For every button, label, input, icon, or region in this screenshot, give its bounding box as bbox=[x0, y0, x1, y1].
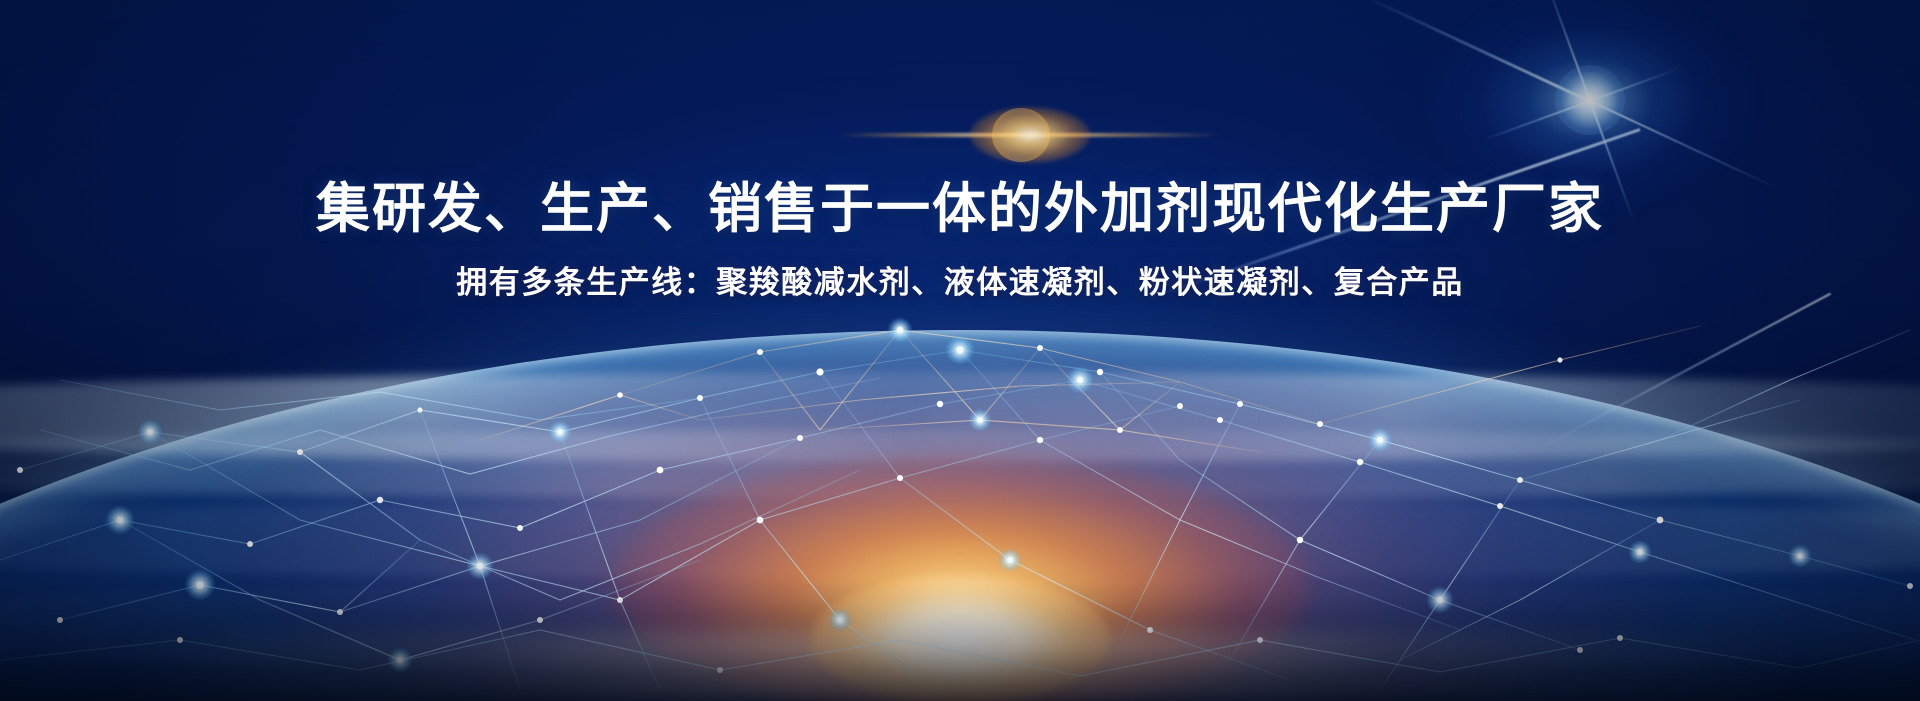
hero-banner: 集研发、生产、销售于一体的外加剂现代化生产厂家 拥有多条生产线：聚羧酸减水剂、液… bbox=[0, 0, 1920, 701]
banner-subheadline: 拥有多条生产线：聚羧酸减水剂、液体速凝剂、粉状速凝剂、复合产品 bbox=[0, 264, 1920, 303]
banner-copy: 集研发、生产、销售于一体的外加剂现代化生产厂家 拥有多条生产线：聚羧酸减水剂、液… bbox=[0, 178, 1920, 302]
bottom-fade bbox=[0, 581, 1920, 701]
banner-headline: 集研发、生产、销售于一体的外加剂现代化生产厂家 bbox=[0, 178, 1920, 242]
